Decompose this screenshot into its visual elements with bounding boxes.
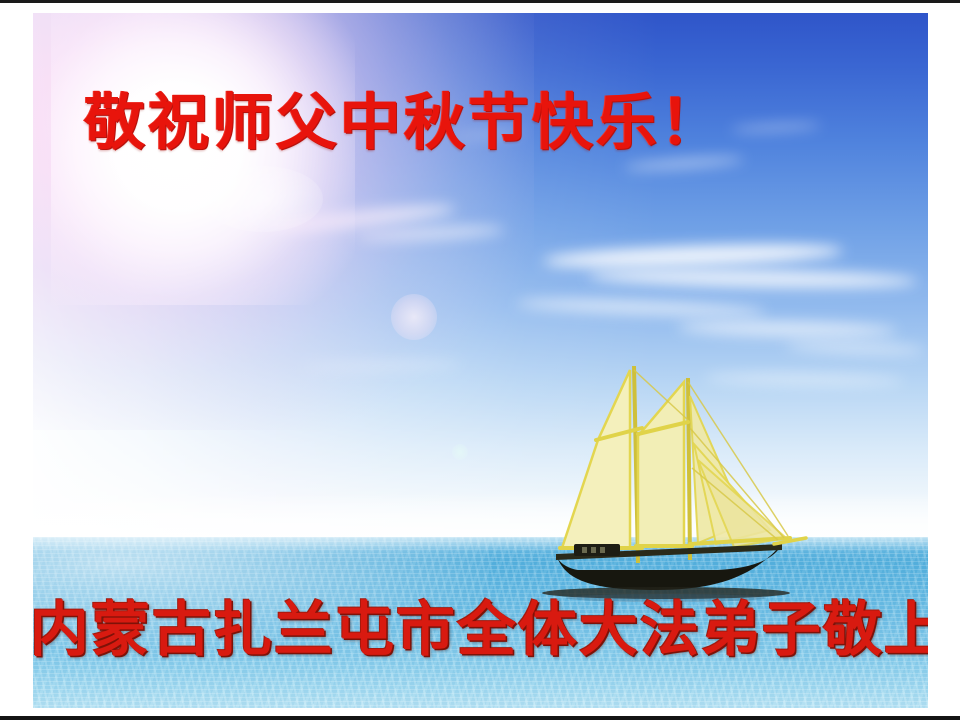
sailing-ship-icon — [538, 348, 838, 608]
seascape-photo: 敬祝师父中秋节快乐！ 内蒙古扎兰屯市全体大法弟子敬上 — [33, 13, 928, 708]
frame-border-bottom — [0, 716, 960, 720]
frame-border-top — [0, 0, 960, 3]
lens-flare-streak — [203, 166, 323, 232]
signature-line: 内蒙古扎兰屯市全体大法弟子敬上 — [33, 600, 920, 659]
greeting-card-page: 敬祝师父中秋节快乐！ 内蒙古扎兰屯市全体大法弟子敬上 — [0, 0, 960, 720]
sun-icon — [51, 13, 355, 305]
lens-flare-dot — [452, 444, 468, 460]
headline-greeting: 敬祝师父中秋节快乐！ — [84, 92, 784, 153]
